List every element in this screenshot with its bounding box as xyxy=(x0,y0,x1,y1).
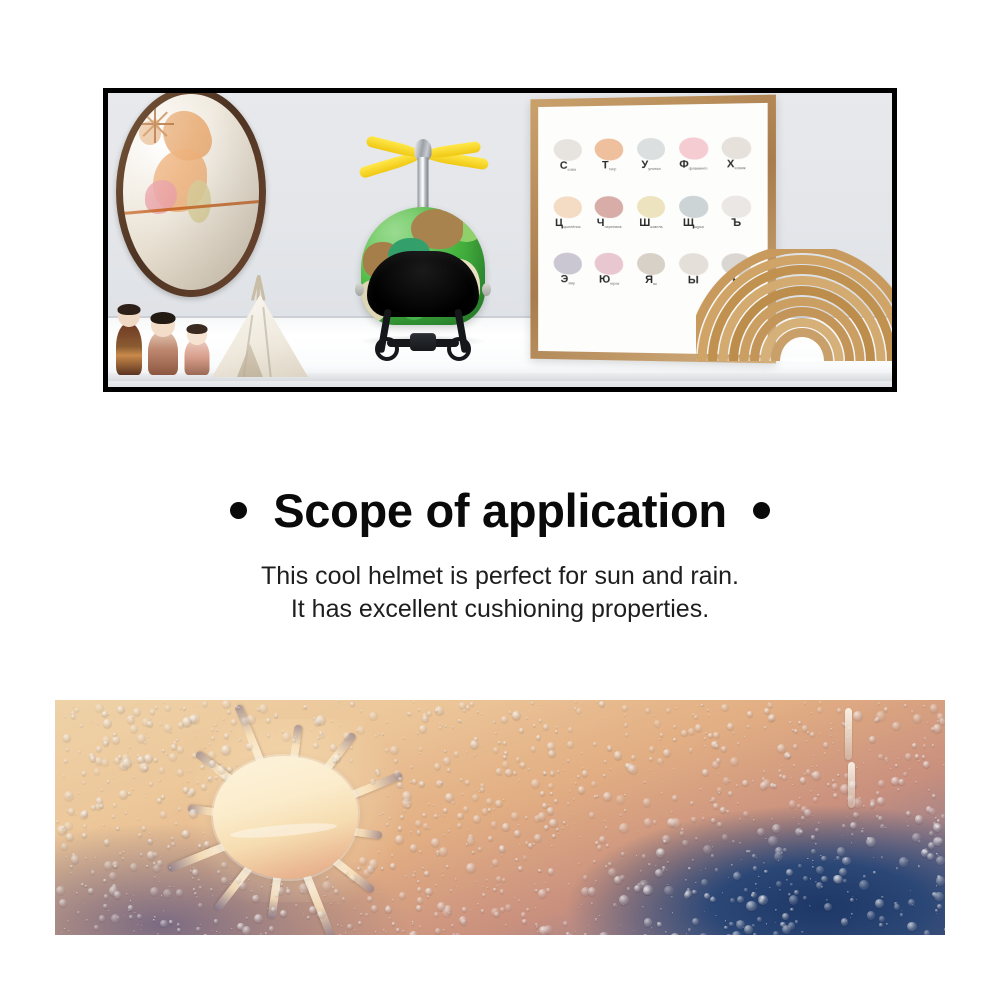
teepee-canvas xyxy=(212,295,308,377)
poster-letter-cell: Яяк xyxy=(631,229,672,285)
headline-row: Scope of application xyxy=(0,480,1000,540)
peg-doll-hair xyxy=(186,324,207,334)
peg-doll-hair xyxy=(151,312,176,324)
page-title: Scope of application xyxy=(273,483,727,538)
poster-letter: Ххомяк xyxy=(727,159,746,170)
poster-animal-illustration xyxy=(595,196,623,218)
poster-letter-cell: Ххомяк xyxy=(715,113,757,170)
peg-doll xyxy=(148,313,178,375)
poster-letter: Ээму xyxy=(561,274,575,285)
poster-letter-cell: Ццыплёнок xyxy=(548,173,588,229)
subcopy-line-1: This cool helmet is perfect for sun and … xyxy=(0,560,1000,593)
poster-animal-illustration xyxy=(722,137,751,160)
poster-animal-illustration xyxy=(595,253,623,275)
wooden-rainbow-stacker xyxy=(696,249,892,361)
poster-letter-cell: Ээму xyxy=(548,229,588,285)
poster-letter-cell: Уулитка xyxy=(631,115,672,172)
poster-letter-cell: Ттигр xyxy=(589,115,630,171)
poster-animal-illustration xyxy=(595,139,623,161)
nursery-scene: СсоваТтигрУулиткаФфламингоХхомякЦцыплёно… xyxy=(108,93,892,387)
peg-doll xyxy=(184,325,209,375)
poster-letter: Ффламинго xyxy=(679,160,707,171)
poster-letter: Яяк xyxy=(645,275,657,286)
poster-animal-illustration xyxy=(554,139,582,161)
poster-letter-cell: Ъ xyxy=(715,171,757,228)
product-listing-page: СсоваТтигрУулиткаФфламингоХхомякЦцыплёно… xyxy=(0,0,1000,1000)
strap-buckle xyxy=(410,333,436,351)
poster-animal-illustration xyxy=(637,195,666,217)
helmet-side-rivet xyxy=(355,283,364,296)
poster-animal-illustration xyxy=(679,137,708,159)
poster-animal-illustration xyxy=(637,253,666,275)
poster-letter-cell: Шшмель xyxy=(631,172,672,228)
poster-animal-illustration xyxy=(679,195,708,217)
poster-animal-illustration xyxy=(554,252,582,274)
poster-letter-cell: Ююрок xyxy=(589,229,630,285)
helmet-side-rivet xyxy=(482,283,491,296)
peg-doll xyxy=(116,305,142,375)
subcopy-line-2: It has excellent cushioning properties. xyxy=(0,593,1000,626)
poster-letter: Ччерепаха xyxy=(597,218,622,229)
bullet-dot-right-icon xyxy=(753,502,770,519)
helmet-opening xyxy=(367,251,479,317)
poster-letter: Ттигр xyxy=(602,161,616,172)
peg-doll-body xyxy=(148,331,178,375)
poster-letter: Ююрок xyxy=(599,274,619,285)
globe-shading xyxy=(123,94,259,290)
poster-letter: Уулитка xyxy=(641,160,660,171)
poster-animal-illustration xyxy=(554,196,582,218)
globe-sphere xyxy=(123,94,259,290)
teepee-fold xyxy=(262,307,271,377)
sun-and-rain-photo xyxy=(55,700,945,935)
poster-letter-cell: Щщука xyxy=(673,172,715,229)
poster-letter: Щщука xyxy=(683,217,704,228)
subcopy: This cool helmet is perfect for sun and … xyxy=(0,560,1000,625)
poster-letter-cell: Ссова xyxy=(548,116,588,172)
poster-letter: Ццыплёнок xyxy=(555,218,580,229)
bullet-dot-left-icon xyxy=(230,502,247,519)
poster-letter: Шшмель xyxy=(639,217,662,228)
canvas-teepee xyxy=(212,281,308,377)
helmet-lifestyle-photo: СсоваТтигрУулиткаФфламингоХхомякЦцыплёно… xyxy=(103,88,897,392)
propeller-helmet xyxy=(353,133,493,363)
poster-animal-illustration xyxy=(637,138,666,160)
vintage-globe xyxy=(116,93,266,305)
peg-doll-body xyxy=(116,323,142,375)
poster-letter-cell: Ччерепаха xyxy=(589,172,630,228)
poster-letter-cell: Ффламинго xyxy=(673,114,715,171)
poster-animal-illustration xyxy=(722,195,751,217)
poster-letter: Ъ xyxy=(731,217,741,228)
poster-letter: Ссова xyxy=(560,161,576,172)
peg-doll-hair xyxy=(118,304,141,315)
